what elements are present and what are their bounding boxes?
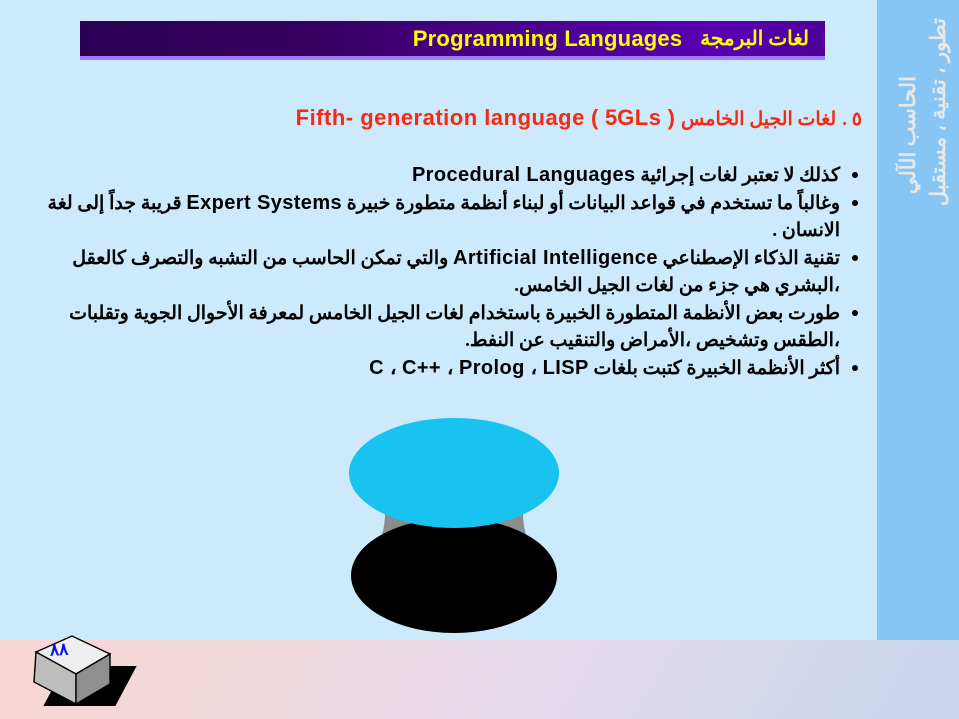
bullet-text-english: Expert Systems [186, 192, 342, 214]
bullet-text-arabic-lead: أكثر الأنظمة الخبيرة كتبت بلغات [593, 358, 840, 379]
sidebar-vertical-text-primary: تطور ، تقنية ، مستقبل [926, 18, 951, 206]
title-english: Programming Languages [413, 26, 682, 52]
subtitle-code: ( 5GLs ) [591, 105, 675, 130]
subtitle-arabic: لغات الجيل الخامس [681, 109, 836, 130]
diagram-cyan-disc [349, 418, 559, 528]
bullet-dot-icon [852, 172, 858, 178]
bullet-dot-icon [852, 200, 858, 206]
bullet-list: كذلك لا تعتبر لغات إجرائية Procedural La… [18, 162, 862, 383]
list-item: تقنية الذكاء الإصطناعي Artificial Intell… [18, 245, 862, 299]
list-item: وغالباً ما تستخدم في قواعد البيانات أو ل… [18, 190, 862, 244]
keyboard-key-icon [24, 632, 134, 712]
page-number-key-graphic: ٨٨ [24, 632, 134, 712]
sidebar-text-group: تطور ، تقنية ، مستقبل الحاسب الآلي [877, 18, 959, 618]
page-number-label: ٨٨ [49, 640, 68, 661]
list-item: طورت بعض الأنظمة المتطورة الخبيرة باستخد… [18, 300, 862, 354]
bullet-text-arabic-lead: تقنية الذكاء الإصطناعي [663, 248, 840, 269]
title-arabic: لغات البرمجة [700, 26, 809, 51]
diagram-black-disc [351, 518, 557, 633]
bullet-text-arabic-lead: وغالباً ما تستخدم في قواعد البيانات أو ل… [347, 193, 840, 214]
cyan-disc-diagram-graphic [345, 418, 563, 633]
title-bar: لغات البرمجة Programming Languages [80, 21, 825, 56]
sidebar-vertical-text-secondary: الحاسب الآلي [896, 76, 921, 194]
slide-canvas: تطور ، تقنية ، مستقبل الحاسب الآلي لغات … [0, 0, 959, 719]
title-bar-inner: لغات البرمجة Programming Languages [413, 21, 809, 56]
subtitle-english: Fifth- generation language [296, 105, 585, 130]
bullet-dot-icon [852, 310, 858, 316]
subtitle-heading: ٥ . لغات الجيل الخامس ( 5GLs ) Fifth- ge… [0, 105, 862, 131]
bullet-text-arabic-lead: طورت بعض الأنظمة المتطورة الخبيرة باستخد… [69, 303, 840, 351]
list-item: أكثر الأنظمة الخبيرة كتبت بلغات C ، C++ … [18, 355, 862, 382]
bullet-text-arabic-lead: كذلك لا تعتبر لغات إجرائية [640, 165, 840, 186]
bullet-dot-icon [852, 365, 858, 371]
list-item: كذلك لا تعتبر لغات إجرائية Procedural La… [18, 162, 862, 189]
bullet-text-english: C ، C++ ، Prolog ، LISP [369, 357, 589, 379]
subtitle-number: ٥ . [842, 109, 862, 130]
bullet-text-english: Procedural Languages [412, 164, 636, 186]
vertical-sidebar: تطور ، تقنية ، مستقبل الحاسب الآلي [877, 0, 959, 640]
bullet-dot-icon [852, 255, 858, 261]
bullet-text-english: Artificial Intelligence [453, 247, 658, 269]
